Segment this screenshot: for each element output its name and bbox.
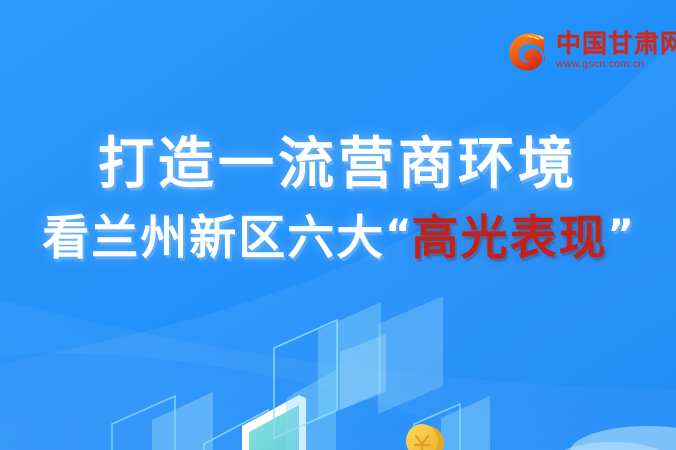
headline-main-title: 打造一流营商环境 — [0, 132, 676, 198]
subtitle-quote-close: ” — [608, 212, 634, 258]
panel-filled-small-right — [441, 396, 490, 450]
panel-filled-far-right — [378, 296, 443, 414]
gold-coin-icon — [406, 424, 444, 450]
logo-site-name: 中国甘肃网 — [556, 31, 676, 58]
subtitle-quote-open: “ — [385, 212, 411, 258]
site-logo[interactable]: 中国甘肃网 www.gscn.com.cn — [504, 22, 666, 80]
subtitle-prefix: 看兰州新区六大 — [42, 211, 385, 266]
headline-block: 打造一流营商环境 看兰州新区六大“高光表现” — [0, 132, 676, 268]
flame-c-logo-icon — [504, 26, 554, 76]
panel-filled-left — [152, 392, 213, 450]
logo-site-url: www.gscn.com.cn — [556, 58, 676, 71]
subtitle-accent: 高光表现 — [412, 211, 608, 266]
logo-text-block: 中国甘肃网 www.gscn.com.cn — [556, 26, 676, 76]
poster-banner: 中国甘肃网 www.gscn.com.cn 打造一流营商环境 看兰州新区六大“高… — [0, 0, 676, 450]
headline-subtitle: 看兰州新区六大“高光表现” — [0, 206, 676, 268]
